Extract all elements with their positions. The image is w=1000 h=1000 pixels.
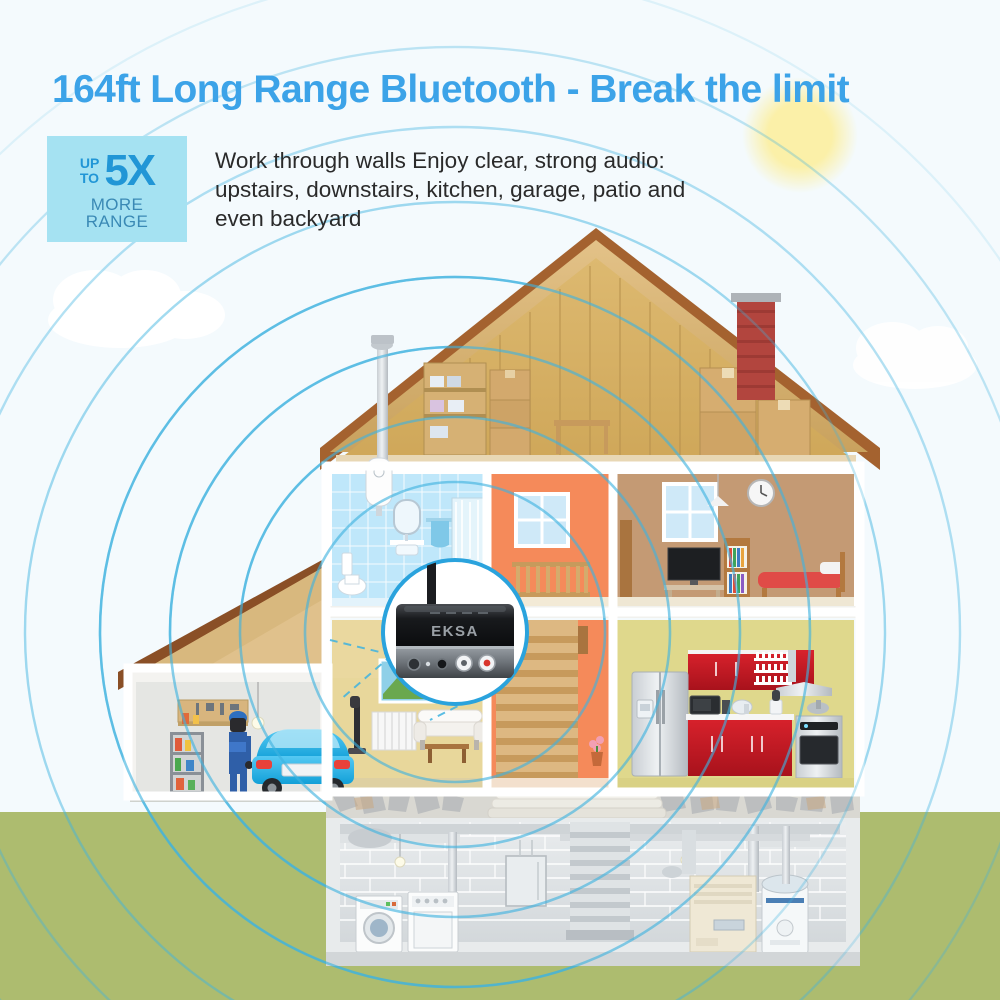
- house-cutaway-illustration: EKSA: [0, 0, 1000, 1000]
- bedroom-room: [616, 474, 854, 608]
- refrigerator: [632, 672, 688, 776]
- garage-room: [130, 672, 354, 802]
- wall-clock: [748, 480, 774, 506]
- shower-stall: [452, 498, 484, 564]
- hallway-window: [516, 494, 568, 546]
- infographic-canvas: EKSA 164ft Long Range Bluetooth - Break …: [0, 0, 1000, 1000]
- attic-boxes-left: [490, 370, 530, 456]
- dryer: [408, 892, 458, 952]
- sun: [742, 77, 858, 193]
- microwave: [690, 696, 720, 714]
- bedroom-window: [664, 484, 716, 540]
- kitchen-room: [616, 620, 854, 788]
- attic-shelving: [424, 363, 486, 455]
- bathroom-mirror: [394, 500, 420, 534]
- kitchen-lower-cabinets: [686, 714, 794, 776]
- led-indicator: [426, 662, 430, 666]
- basement-stairs: [566, 822, 634, 940]
- power-button: [408, 658, 420, 670]
- device-brand-text: EKSA: [431, 623, 479, 640]
- garage-shelf-unit: [170, 732, 204, 794]
- aux-jack: [437, 659, 447, 669]
- radiator-left: [372, 712, 416, 750]
- bedroom-door: [620, 520, 632, 604]
- washing-machine: [356, 896, 402, 952]
